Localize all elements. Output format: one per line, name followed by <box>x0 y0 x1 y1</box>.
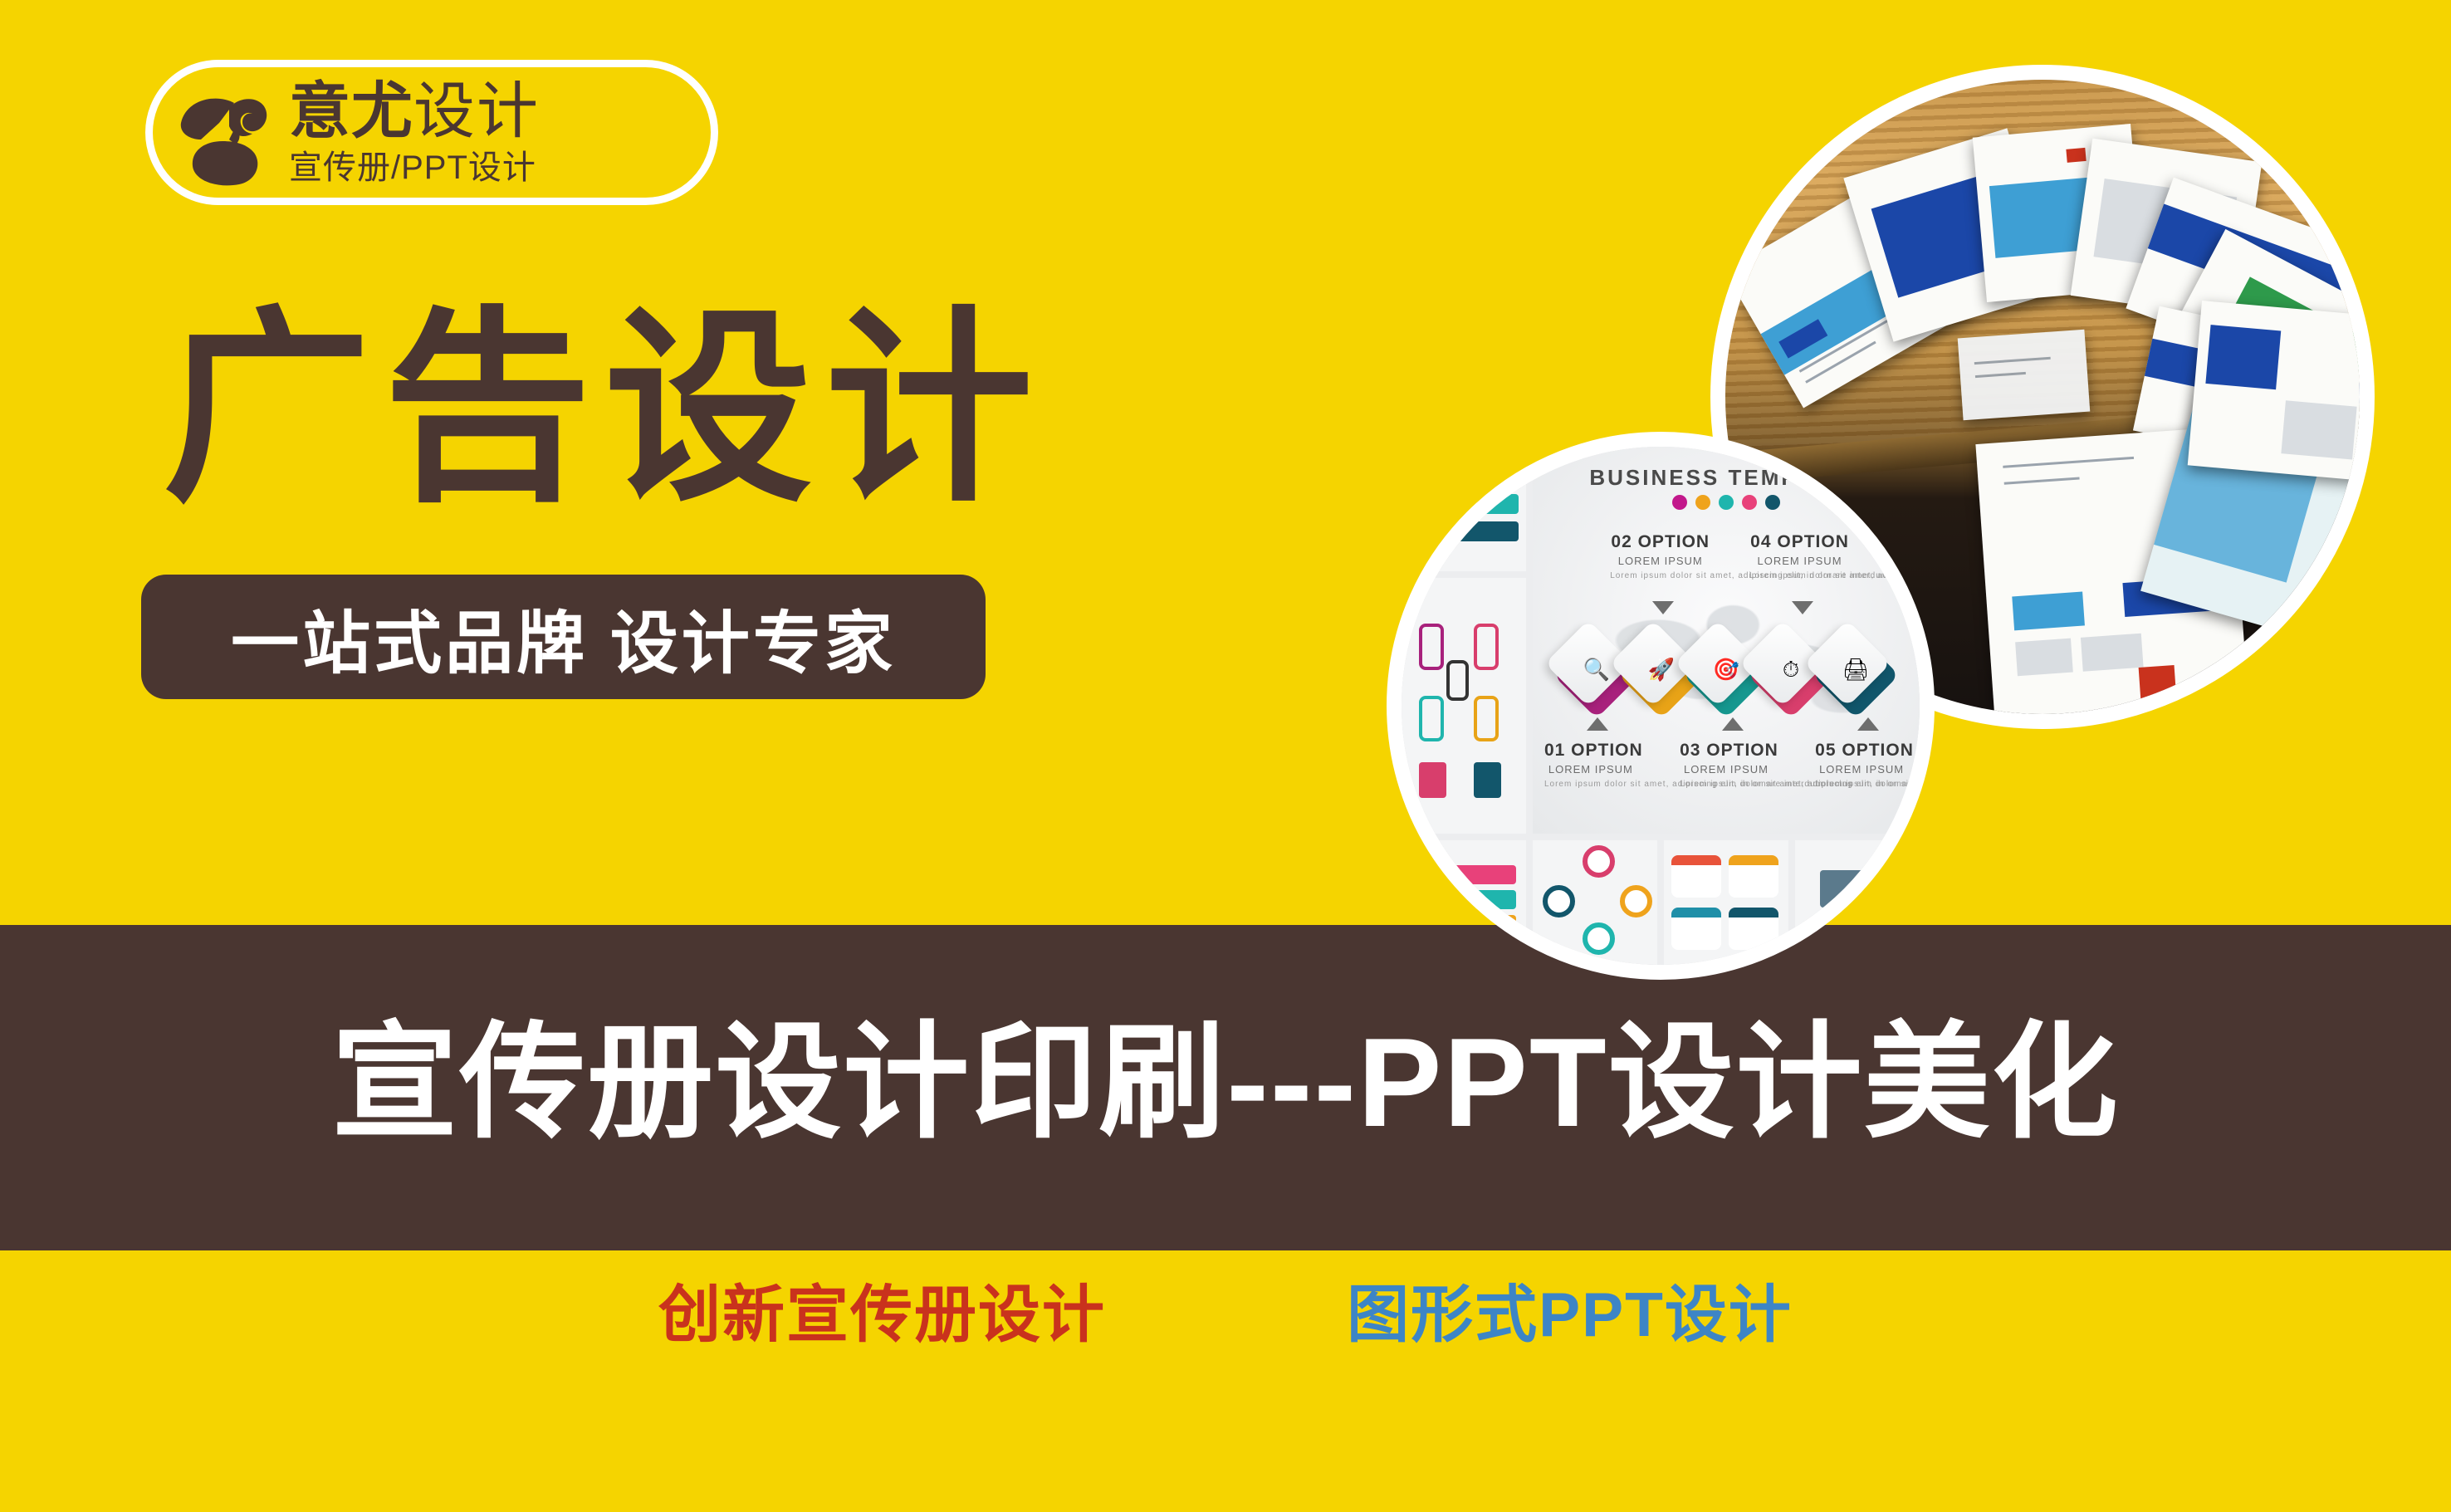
ppt-diamond-row: 🔍 🚀 🎯 ⏱ <box>1533 624 1920 725</box>
ppt-option-label: 01 OPTION LOREM IPSUM Lorem ipsum dolor … <box>1544 741 1637 790</box>
magnifier-icon: 🔍 <box>1579 653 1614 687</box>
yiyou-seed-mark-icon <box>168 75 284 191</box>
subtitle-text: 一站式品牌 设计专家 <box>231 588 896 687</box>
ppt-slide-thumb <box>1402 840 1526 965</box>
ppt-option-label: 05 OPTION LOREM IPSUM Lorem ipsum dolor … <box>1815 741 1908 790</box>
pointer-down-icon <box>1792 601 1813 614</box>
ppt-slide-thumb <box>1533 840 1657 965</box>
pointer-up-icon <box>1587 717 1608 731</box>
ppt-slide-thumb <box>1402 447 1526 571</box>
target-icon: 🎯 <box>1709 653 1744 687</box>
ppt-slide-thumb <box>1664 840 1788 965</box>
ppt-accent-dots <box>1672 495 1780 510</box>
ppt-slide-grid: BUSINESS TEMPLATE 02 OPTION LOREM IPSUM … <box>1402 447 1920 965</box>
ppt-slide-thumb <box>1402 578 1526 834</box>
brochure-item <box>2188 301 2360 481</box>
rocket-icon: 🚀 <box>1644 653 1679 687</box>
bottom-tag-row: 创新宣传册设计 图形式PPT设计 <box>0 1284 2451 1346</box>
printer-icon: 🖨 <box>1838 653 1873 687</box>
pointer-down-icon <box>1652 601 1674 614</box>
logo-brand-bold: 意尤 <box>289 81 413 142</box>
ppt-templates-photo: BUSINESS TEMPLATE 02 OPTION LOREM IPSUM … <box>1387 432 1935 980</box>
logo-text-column: 意尤设计 宣传册/PPT设计 <box>289 81 540 184</box>
page-title: 广告设计 <box>163 306 1046 513</box>
clock-icon: ⏱ <box>1773 653 1808 687</box>
card-holder <box>1957 329 2089 420</box>
logo-brand-name: 意尤设计 <box>289 81 540 142</box>
ppt-slide-main: BUSINESS TEMPLATE 02 OPTION LOREM IPSUM … <box>1533 447 1920 834</box>
band-headline: 宣传册设计印刷---PPT设计美化 <box>0 980 2451 1162</box>
tag-ppt-design: 图形式PPT设计 <box>1347 1284 1793 1346</box>
pointer-up-icon <box>1857 717 1879 731</box>
ppt-option-label: 02 OPTION LOREM IPSUM Lorem ipsum dolor … <box>1610 532 1710 582</box>
logo-brand-thin: 设计 <box>413 81 540 142</box>
ppt-slide-thumb-row <box>1533 840 1920 965</box>
ppt-slide-title: BUSINESS TEMPLATE <box>1589 465 1862 491</box>
ppt-diamond: 🖨 <box>1825 644 1886 706</box>
pointer-up-icon <box>1722 717 1744 731</box>
ppt-option-label: 04 OPTION LOREM IPSUM Lorem ipsum dolor … <box>1749 532 1850 582</box>
logo-brand-sub: 宣传册/PPT设计 <box>289 151 540 184</box>
ppt-photo-inner: BUSINESS TEMPLATE 02 OPTION LOREM IPSUM … <box>1402 447 1920 965</box>
ppt-slide-thumb <box>1795 840 1920 965</box>
tag-brochure-design: 创新宣传册设计 <box>658 1284 1106 1346</box>
advertising-banner: 意尤设计 宣传册/PPT设计 广告设计 一站式品牌 设计专家 <box>0 0 2451 1512</box>
logo-lockup: 意尤设计 宣传册/PPT设计 <box>145 60 718 205</box>
subtitle-pill: 一站式品牌 设计专家 <box>141 575 986 699</box>
ppt-option-label: 03 OPTION LOREM IPSUM Lorem ipsum dolor … <box>1680 741 1773 790</box>
